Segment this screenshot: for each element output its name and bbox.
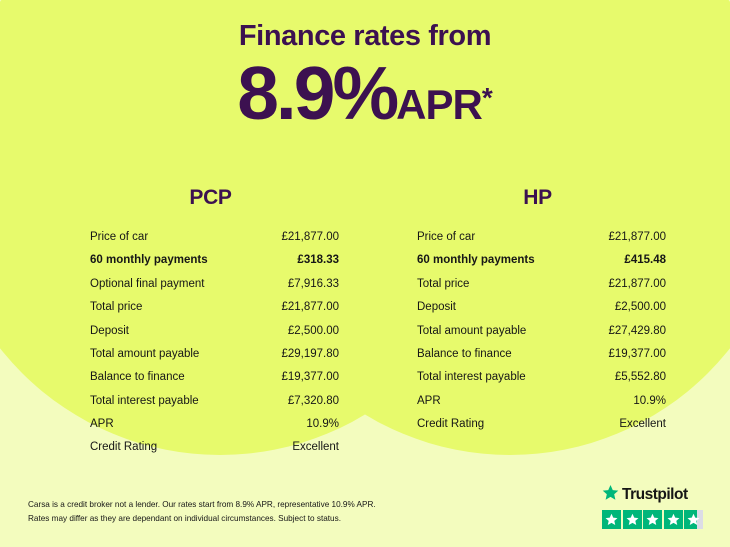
table-row: Total amount payable£27,429.80 (405, 320, 670, 343)
table-row: Balance to finance£19,377.00 (78, 366, 343, 389)
table-row: Deposit£2,500.00 (78, 320, 343, 343)
row-label: Balance to finance (78, 366, 258, 389)
row-value: £21,877.00 (258, 226, 343, 249)
table-row: Credit RatingExcellent (405, 413, 670, 436)
page-title: Finance rates from (0, 20, 730, 53)
disclaimer-text: Carsa is a credit broker not a lender. O… (28, 498, 376, 525)
trustpilot-star-icon (602, 484, 619, 506)
hp-table: Price of car£21,877.0060 monthly payment… (405, 226, 670, 436)
row-label: 60 monthly payments (405, 249, 585, 272)
row-label: Total interest payable (78, 390, 258, 413)
row-value: £7,320.80 (258, 390, 343, 413)
table-row: Balance to finance£19,377.00 (405, 343, 670, 366)
trustpilot-star-box (684, 510, 703, 529)
trustpilot-wordmark: Trustpilot (602, 484, 710, 506)
asterisk-marker: * (482, 82, 493, 113)
rate-headline: 8.9%APR* (0, 56, 730, 131)
row-value: £27,429.80 (585, 320, 670, 343)
row-value: £7,916.33 (258, 273, 343, 296)
pcp-table: Price of car£21,877.0060 monthly payment… (78, 226, 343, 460)
table-row: Total price£21,877.00 (405, 273, 670, 296)
row-value: £5,552.80 (585, 366, 670, 389)
row-label: Total amount payable (78, 343, 258, 366)
trustpilot-rating-stars (602, 510, 710, 529)
row-value: £21,877.00 (585, 273, 670, 296)
row-value: £21,877.00 (258, 296, 343, 319)
table-row: Total amount payable£29,197.80 (78, 343, 343, 366)
row-value: Excellent (585, 413, 670, 436)
table-row: Price of car£21,877.00 (405, 226, 670, 249)
table-row: Credit RatingExcellent (78, 436, 343, 459)
row-label: Total price (405, 273, 585, 296)
table-row: Optional final payment£7,916.33 (78, 273, 343, 296)
row-value: 10.9% (258, 413, 343, 436)
disclaimer-line-2: Rates may differ as they are dependant o… (28, 512, 376, 525)
rate-unit-label: APR (396, 81, 482, 128)
row-label: Price of car (78, 226, 258, 249)
row-label: Total amount payable (405, 320, 585, 343)
trustpilot-name: Trustpilot (622, 487, 688, 503)
hp-table-column: HP Price of car£21,877.0060 monthly paym… (405, 186, 670, 436)
row-label: APR (405, 390, 585, 413)
table-row: APR10.9% (405, 390, 670, 413)
trustpilot-star-box (643, 510, 662, 529)
row-value: £21,877.00 (585, 226, 670, 249)
promo-banner: Finance rates from 8.9%APR* PCP Price of… (0, 0, 730, 547)
row-label: Optional final payment (78, 273, 258, 296)
row-value: £29,197.80 (258, 343, 343, 366)
hp-table-title: HP (405, 186, 670, 210)
row-label: APR (78, 413, 258, 436)
row-label: Price of car (405, 226, 585, 249)
table-row: 60 monthly payments£415.48 (405, 249, 670, 272)
row-label: Credit Rating (78, 436, 258, 459)
table-row: Total price£21,877.00 (78, 296, 343, 319)
table-row: Total interest payable£5,552.80 (405, 366, 670, 389)
table-row: Total interest payable£7,320.80 (78, 390, 343, 413)
row-value: £19,377.00 (585, 343, 670, 366)
row-value: £318.33 (258, 249, 343, 272)
trustpilot-star-box (623, 510, 642, 529)
row-label: Total interest payable (405, 366, 585, 389)
row-label: Total price (78, 296, 258, 319)
table-row: Price of car£21,877.00 (78, 226, 343, 249)
row-label: Balance to finance (405, 343, 585, 366)
row-value: £2,500.00 (258, 320, 343, 343)
row-label: 60 monthly payments (78, 249, 258, 272)
table-row: Deposit£2,500.00 (405, 296, 670, 319)
table-row: 60 monthly payments£318.33 (78, 249, 343, 272)
row-value: £415.48 (585, 249, 670, 272)
trustpilot-star-box (602, 510, 621, 529)
row-label: Deposit (405, 296, 585, 319)
row-value: £19,377.00 (258, 366, 343, 389)
pcp-table-column: PCP Price of car£21,877.0060 monthly pay… (78, 186, 343, 460)
row-label: Deposit (78, 320, 258, 343)
row-value: £2,500.00 (585, 296, 670, 319)
disclaimer-line-1: Carsa is a credit broker not a lender. O… (28, 498, 376, 511)
trustpilot-star-box (664, 510, 683, 529)
row-label: Credit Rating (405, 413, 585, 436)
rate-value: 8.9% (237, 51, 396, 135)
pcp-table-title: PCP (78, 186, 343, 210)
table-row: APR10.9% (78, 413, 343, 436)
trustpilot-badge[interactable]: Trustpilot (602, 484, 710, 529)
row-value: Excellent (258, 436, 343, 459)
row-value: 10.9% (585, 390, 670, 413)
